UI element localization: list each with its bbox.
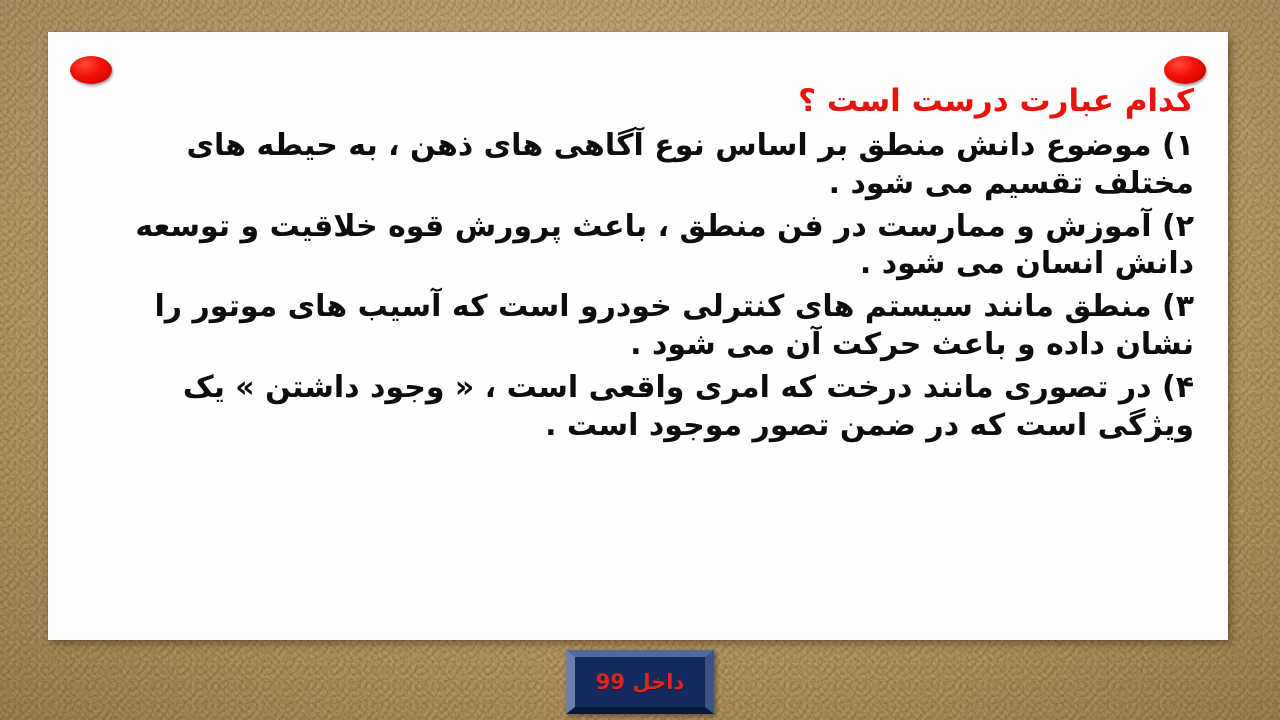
red-magnet-icon-left: [70, 56, 112, 84]
red-magnet-icon-right: [1164, 56, 1206, 84]
slide-content: کدام عبارت درست است ؟ ۱) موضوع دانش منطق…: [48, 84, 1228, 449]
answer-option-2[interactable]: ۲) آموزش و ممارست در فن منطق ، باعث پرور…: [82, 208, 1194, 284]
answer-option-4[interactable]: ۴) در تصوری مانند درخت که امری واقعی است…: [82, 369, 1194, 445]
question-title: کدام عبارت درست است ؟: [82, 84, 1194, 118]
answer-option-3[interactable]: ۳) منطق مانند سیستم های کنترلی خودرو است…: [82, 288, 1194, 364]
answer-option-1[interactable]: ۱) موضوع دانش منطق بر اساس نوع آگاهی های…: [82, 127, 1194, 203]
source-plaque-label: داخل 99: [596, 670, 684, 694]
source-plaque: داخل 99: [566, 650, 714, 714]
slide-card: کدام عبارت درست است ؟ ۱) موضوع دانش منطق…: [48, 32, 1228, 640]
